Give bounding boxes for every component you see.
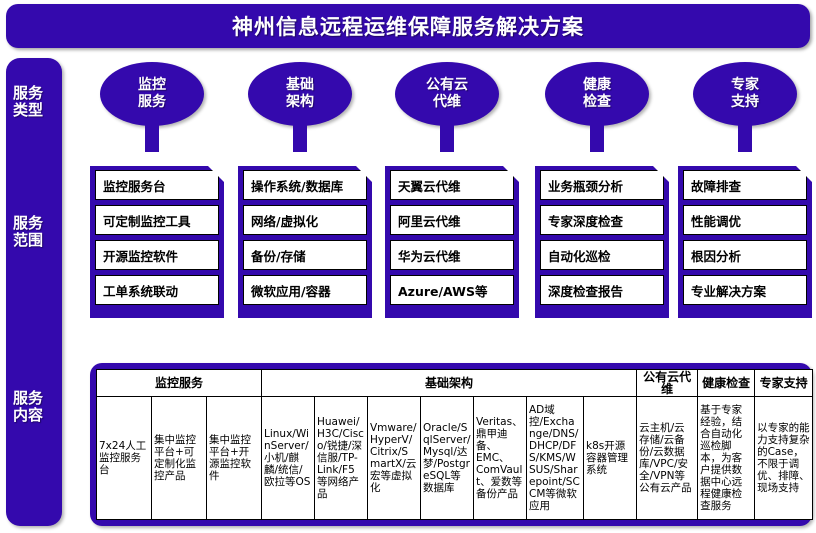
connector-stem-health-check	[590, 122, 604, 152]
rail-label-service-content-line2: 内容	[0, 407, 56, 424]
page-title-bar: 神州信息远程运维保障服务解决方案	[6, 4, 810, 48]
scope-item[interactable]: 备份/存储	[243, 240, 367, 270]
category-ellipse-expert-support[interactable]: 专家 支持	[693, 62, 797, 126]
table-cell: k8s开源容器管理系统	[584, 397, 637, 520]
scope-item[interactable]: 专业解决方案	[683, 275, 807, 305]
rail-label-service-scope: 服务 范围	[0, 215, 56, 249]
scope-item[interactable]: 操作系统/数据库	[243, 170, 367, 200]
category-ellipse-monitoring-line2: 服务	[138, 94, 166, 111]
category-ellipse-public-cloud-line2: 代维	[426, 94, 468, 111]
rail-label-service-content-line1: 服务	[0, 390, 56, 407]
scope-panel-infrastructure: 操作系统/数据库 网络/虚拟化 备份/存储 微软应用/容器	[238, 166, 372, 318]
service-content-table: 监控服务 基础架构 公有云代维 健康检查 专家支持 7x24人工监控服务台 集中…	[96, 369, 813, 520]
table-group-header-expert-support: 专家支持	[755, 370, 813, 397]
table-group-header-row: 监控服务 基础架构 公有云代维 健康检查 专家支持	[97, 370, 813, 397]
scope-item[interactable]: 开源监控软件	[95, 240, 219, 270]
table-group-header-infrastructure: 基础架构	[262, 370, 637, 397]
connector-stem-monitoring	[145, 122, 159, 152]
table-cell: Vmware/HyperV/Citrix/SmartX/云宏等虚拟化	[368, 397, 421, 520]
table-cell: 基于专家经验，结合自动化巡检脚本，为客户提供数据中心远程健康检查服务	[698, 397, 755, 520]
table-group-header-health-check: 健康检查	[698, 370, 755, 397]
category-ellipse-monitoring-line1: 监控	[138, 77, 166, 94]
rail-label-service-scope-line1: 服务	[0, 215, 56, 232]
table-cell: 云主机/云存储/云备份/云数据库/VPC/安全/VPN等公有云产品	[637, 397, 698, 520]
scope-item[interactable]: 故障排查	[683, 170, 807, 200]
rail-label-service-type: 服务 类型	[0, 85, 56, 119]
category-ellipse-infrastructure-line1: 基础	[286, 77, 314, 94]
scope-item[interactable]: Azure/AWS等	[390, 275, 514, 305]
scope-item[interactable]: 微软应用/容器	[243, 275, 367, 305]
category-ellipse-expert-support-line2: 支持	[731, 94, 759, 111]
scope-panel-row: 监控服务台 可定制监控工具 开源监控软件 工单系统联动 操作系统/数据库 网络/…	[90, 166, 812, 322]
rail-label-service-type-line2: 类型	[0, 102, 56, 119]
category-ellipse-health-check-line1: 健康	[583, 77, 611, 94]
scope-item[interactable]: 华为云代维	[390, 240, 514, 270]
connector-stem-expert-support	[738, 122, 752, 152]
scope-item[interactable]: 阿里云代维	[390, 205, 514, 235]
category-ellipse-infrastructure[interactable]: 基础 架构	[248, 62, 352, 126]
table-group-header-public-cloud: 公有云代维	[637, 370, 698, 397]
table-row: 7x24人工监控服务台 集中监控平台+可定制化监控产品 集中监控平台+开源监控软…	[97, 397, 813, 520]
scope-item[interactable]: 天翼云代维	[390, 170, 514, 200]
scope-item[interactable]: 性能调优	[683, 205, 807, 235]
scope-item[interactable]: 深度检查报告	[540, 275, 664, 305]
scope-item[interactable]: 自动化巡检	[540, 240, 664, 270]
category-ellipse-public-cloud[interactable]: 公有云 代维	[395, 62, 499, 126]
connector-stem-infrastructure	[293, 122, 307, 152]
table-group-header-monitoring: 监控服务	[97, 370, 262, 397]
category-ellipse-health-check-line2: 检查	[583, 94, 611, 111]
diagram-canvas: 神州信息远程运维保障服务解决方案 服务 类型 服务 范围 服务 内容 监控 服务…	[0, 0, 816, 533]
table-cell: 集中监控平台+开源监控软件	[207, 397, 262, 520]
table-cell: 7x24人工监控服务台	[97, 397, 152, 520]
category-ellipse-health-check[interactable]: 健康 检查	[545, 62, 649, 126]
connector-stem-public-cloud	[440, 122, 454, 152]
page-title: 神州信息远程运维保障服务解决方案	[232, 11, 584, 41]
category-ellipse-row: 监控 服务 基础 架构 公有云 代维 健康 检查	[90, 62, 812, 140]
scope-panel-expert-support: 故障排查 性能调优 根因分析 专业解决方案	[678, 166, 812, 318]
rail-label-service-content: 服务 内容	[0, 390, 56, 424]
scope-item[interactable]: 工单系统联动	[95, 275, 219, 305]
category-ellipse-expert-support-line1: 专家	[731, 77, 759, 94]
rail-label-service-type-line1: 服务	[0, 85, 56, 102]
table-cell: Huawei/H3C/Cisco/锐捷/深信服/TP-Link/F5等网络产品	[315, 397, 368, 520]
service-content-panel: 监控服务 基础架构 公有云代维 健康检查 专家支持 7x24人工监控服务台 集中…	[90, 363, 812, 526]
scope-item[interactable]: 网络/虚拟化	[243, 205, 367, 235]
table-cell: AD域控/Exchange/DNS/DHCP/DFS/KMS/WSUS/Shar…	[527, 397, 584, 520]
table-cell: Oracle/SqlServer/Mysql/达梦/PostgreSQL等数据库	[421, 397, 474, 520]
scope-item[interactable]: 业务瓶颈分析	[540, 170, 664, 200]
category-ellipse-monitoring[interactable]: 监控 服务	[100, 62, 204, 126]
scope-panel-public-cloud: 天翼云代维 阿里云代维 华为云代维 Azure/AWS等	[385, 166, 519, 318]
scope-panel-monitoring: 监控服务台 可定制监控工具 开源监控软件 工单系统联动	[90, 166, 224, 318]
category-ellipse-public-cloud-line1: 公有云	[426, 77, 468, 94]
table-cell: 集中监控平台+可定制化监控产品	[152, 397, 207, 520]
scope-item[interactable]: 专家深度检查	[540, 205, 664, 235]
table-cell: Linux/WinServer/小机/麒麟/统信/欧拉等OS	[262, 397, 315, 520]
scope-item[interactable]: 监控服务台	[95, 170, 219, 200]
scope-item[interactable]: 可定制监控工具	[95, 205, 219, 235]
rail-label-service-scope-line2: 范围	[0, 232, 56, 249]
table-cell: Veritas、鼎甲迪备、EMC、ComVault、爱数等备份产品	[474, 397, 527, 520]
scope-item[interactable]: 根因分析	[683, 240, 807, 270]
left-rail	[6, 58, 62, 526]
category-ellipse-infrastructure-line2: 架构	[286, 94, 314, 111]
table-cell: 以专家的能力支持复杂的Case，不限于调优、排障、现场支持	[755, 397, 813, 520]
scope-panel-health-check: 业务瓶颈分析 专家深度检查 自动化巡检 深度检查报告	[535, 166, 669, 318]
